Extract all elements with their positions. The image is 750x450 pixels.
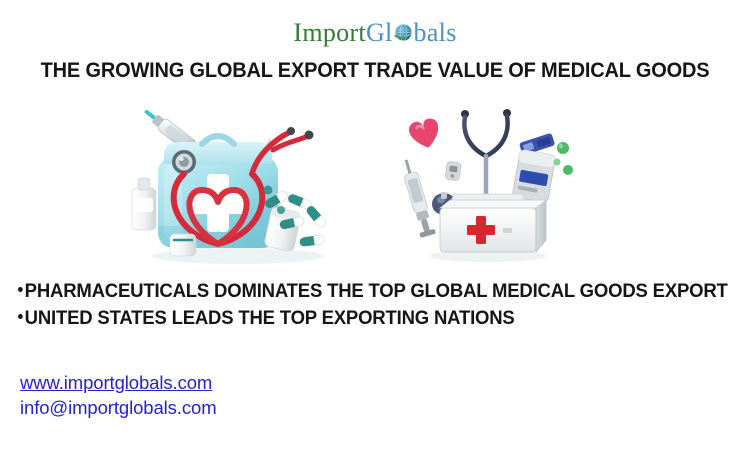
list-item: PHARMACEUTICALS DOMINATES THE TOP GLOBAL… (18, 278, 712, 305)
medical-bag-illustration (118, 98, 358, 266)
website-link[interactable]: www.importglobals.com (20, 370, 217, 395)
list-item: UNITED STATES LEADS THE TOP EXPORTING NA… (18, 305, 712, 332)
poster-canvas: ImportGl (0, 0, 750, 450)
first-aid-kit-illustration (392, 100, 582, 264)
bullet-text: PHARMACEUTICALS DOMINATES THE TOP GLOBAL… (25, 280, 728, 302)
bullet-list: PHARMACEUTICALS DOMINATES THE TOP GLOBAL… (18, 278, 748, 332)
brand-logo: ImportGl (0, 16, 750, 50)
illustration-row (0, 96, 750, 266)
logo-word-globals-prefix: Gl (366, 18, 393, 47)
logo-word-globals-suffix: bals (414, 18, 457, 47)
logo-word-import: Import (293, 18, 366, 47)
contact-footer: www.importglobals.com info@importglobals… (20, 370, 217, 420)
bullet-dot-icon (18, 287, 23, 292)
globe-icon (393, 22, 414, 43)
page-title: THE GROWING GLOBAL EXPORT TRADE VALUE OF… (26, 58, 724, 83)
bullet-dot-icon (18, 314, 23, 319)
bullet-text: UNITED STATES LEADS THE TOP EXPORTING NA… (25, 307, 515, 329)
email-link[interactable]: info@importglobals.com (20, 395, 217, 420)
